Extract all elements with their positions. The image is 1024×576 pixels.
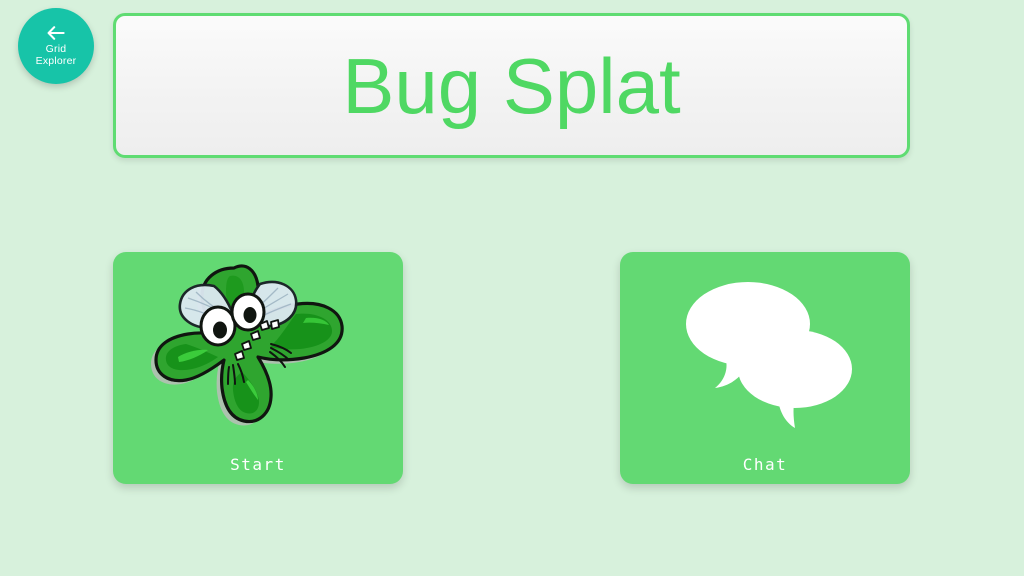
card-start-label: Start xyxy=(113,455,403,474)
speech-bubbles-icon xyxy=(620,252,910,452)
card-chat-label: Chat xyxy=(620,455,910,474)
title-panel: Bug Splat xyxy=(113,13,910,158)
card-chat[interactable]: Chat xyxy=(620,252,910,484)
bug-splat-icon xyxy=(113,252,403,452)
back-button-label-line1: Grid xyxy=(46,43,67,55)
back-button-label-line2: Explorer xyxy=(36,55,77,67)
back-button[interactable]: Grid Explorer xyxy=(18,8,94,84)
card-start[interactable]: Start xyxy=(113,252,403,484)
arrow-left-icon xyxy=(46,26,66,40)
page-title: Bug Splat xyxy=(342,47,680,125)
